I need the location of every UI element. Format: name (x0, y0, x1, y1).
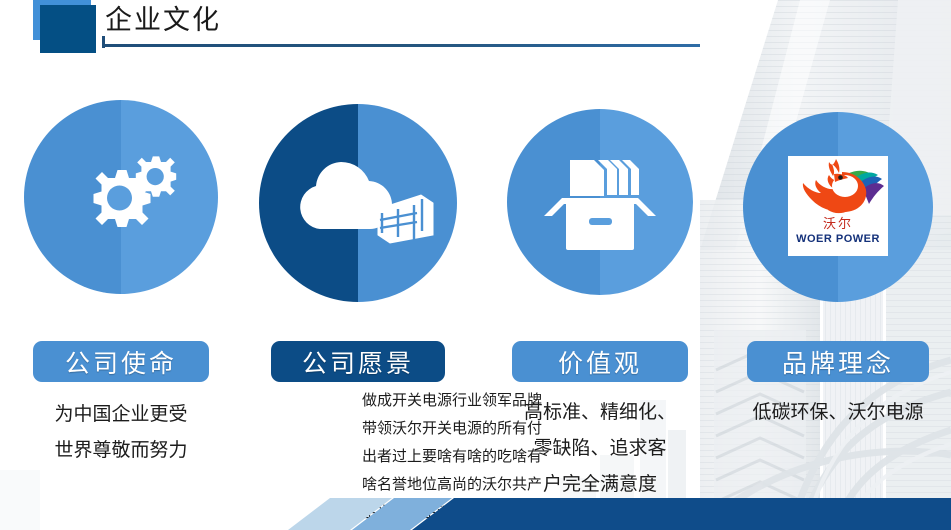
woer-power-logo: 沃尔 WOER POWER (788, 156, 888, 256)
bottom-banner (0, 484, 951, 530)
gears-glyph (24, 100, 218, 294)
brand-circle: 沃尔 WOER POWER (743, 112, 933, 302)
banner-stripe-dark (412, 498, 951, 530)
cloud-building-icon (259, 104, 457, 302)
gears-icon (24, 100, 218, 294)
culture-column-vision: 公司愿景 做成开关电源行业领军品牌 带领沃尔开关电源的所有付 出者过上要啥有啥的… (240, 0, 476, 530)
body-line: 零缺陷、追求客 (509, 430, 691, 466)
body-mission: 为中国企业更受 世界尊敬而努力 (16, 396, 226, 468)
culture-column-brand: 沃尔 WOER POWER 品牌理念 低碳环保、沃尔电源 (720, 0, 951, 530)
culture-column-mission: 公司使命 为中国企业更受 世界尊敬而努力 (3, 0, 239, 530)
archive-box-icon (507, 109, 693, 295)
body-line: 为中国企业更受 (16, 396, 226, 432)
body-brand: 低碳环保、沃尔电源 (723, 394, 951, 430)
culture-column-values: 价值观 高标准、精细化、 零缺陷、追求客 户完全满意度 (482, 0, 718, 530)
cloud-building-glyph (259, 104, 457, 302)
pill-values[interactable]: 价值观 (512, 341, 688, 382)
pill-vision[interactable]: 公司愿景 (271, 341, 445, 382)
body-line: 世界尊敬而努力 (16, 432, 226, 468)
logo-english-text: WOER POWER (796, 233, 880, 246)
culture-columns: 公司使命 为中国企业更受 世界尊敬而努力 (0, 0, 951, 530)
body-line: 高标准、精细化、 (509, 394, 691, 430)
logo-chinese-text: 沃尔 (823, 218, 853, 231)
pill-mission[interactable]: 公司使命 (33, 341, 209, 382)
archive-box-glyph (507, 109, 693, 295)
phoenix-logo-mark (790, 156, 886, 222)
body-line: 低碳环保、沃尔电源 (723, 394, 951, 430)
slide-canvas: 企业文化 (0, 0, 951, 530)
pill-brand[interactable]: 品牌理念 (747, 341, 929, 382)
